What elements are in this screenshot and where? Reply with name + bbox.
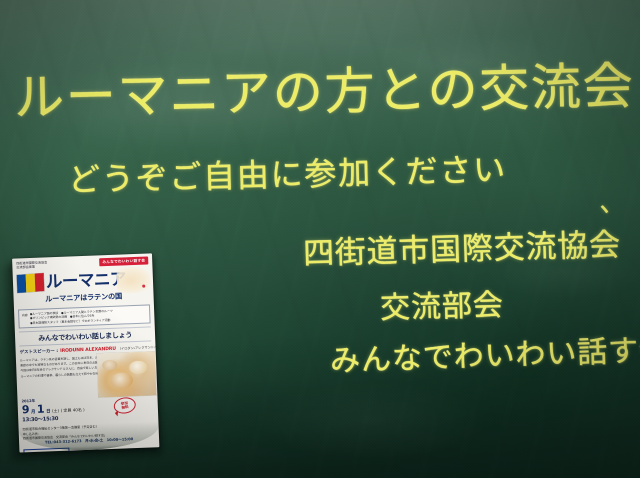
poster-association-line-2: 交流部会事業 [16,265,47,270]
poster-month-unit: 月 [31,408,36,414]
poster-speaker-kana: （イロダン・アレクサンドル） [118,344,160,351]
romanian-food-photo [97,351,157,397]
map-capital-dot-icon [143,285,146,288]
poster-month-number: 9 [22,404,30,415]
chalk-organizer-line-2: 交流部会 [379,280,504,327]
poster-callout: みんなでわいわい話しましょう [19,326,151,346]
poster-day-of-week: (土) [52,408,59,414]
free-admission-stamp-line-2: 無料 [121,404,129,409]
chalk-headline: ルーマニアの方との交流会 [13,46,635,130]
poster-content-box: 内容 ●ルーマニア語の挨拶 ●ルーマニア人間とラテン気質のルーツ ●オリンピック… [18,304,151,328]
romania-flag-icon [17,273,45,293]
poster-capacity: ( 定員 40名 ) [61,407,85,414]
poster-content-tag: 内容 [22,312,29,325]
poster-speaker-label: ゲストスピーカー : [20,348,59,355]
poster-day-unit: 日 [46,408,51,414]
chalk-organizer-line-1: 四街道市国際交流協会 [302,219,621,273]
poster-title-row: ルーマニア [17,269,150,292]
poster-association-header: 四街道市国際交流協会 交流部会事業 [16,260,47,270]
poster-title: ルーマニア [46,271,127,291]
chalkboard-photo-scene: ルーマニアの方との交流会 どうぞご自由に参加ください 、 四街道市国際交流協会 … [0,0,640,478]
romania-map-icon [116,266,151,293]
event-flyer-poster[interactable]: 四街道市国際交流協会 交流部会事業 みんなでわいわい話す会 ルーマニア ルーマニ… [12,253,159,452]
poster-day-number: 1 [37,403,45,414]
speech-bubble-tail-icon [112,409,118,415]
chalk-comma-mark: 、 [599,182,628,221]
poster-body-block: ルーマニアは、ラテン系の言葉を話し、国土もほぼ日本、ルーマニアの歴史と文化は、 … [20,353,153,396]
poster-badge: みんなでわいわい話す会 [99,256,148,266]
poster-date-block: 2012年 9 月 1 日 (土) ( 定員 40名 ) 13:30〜15:30… [21,394,154,424]
